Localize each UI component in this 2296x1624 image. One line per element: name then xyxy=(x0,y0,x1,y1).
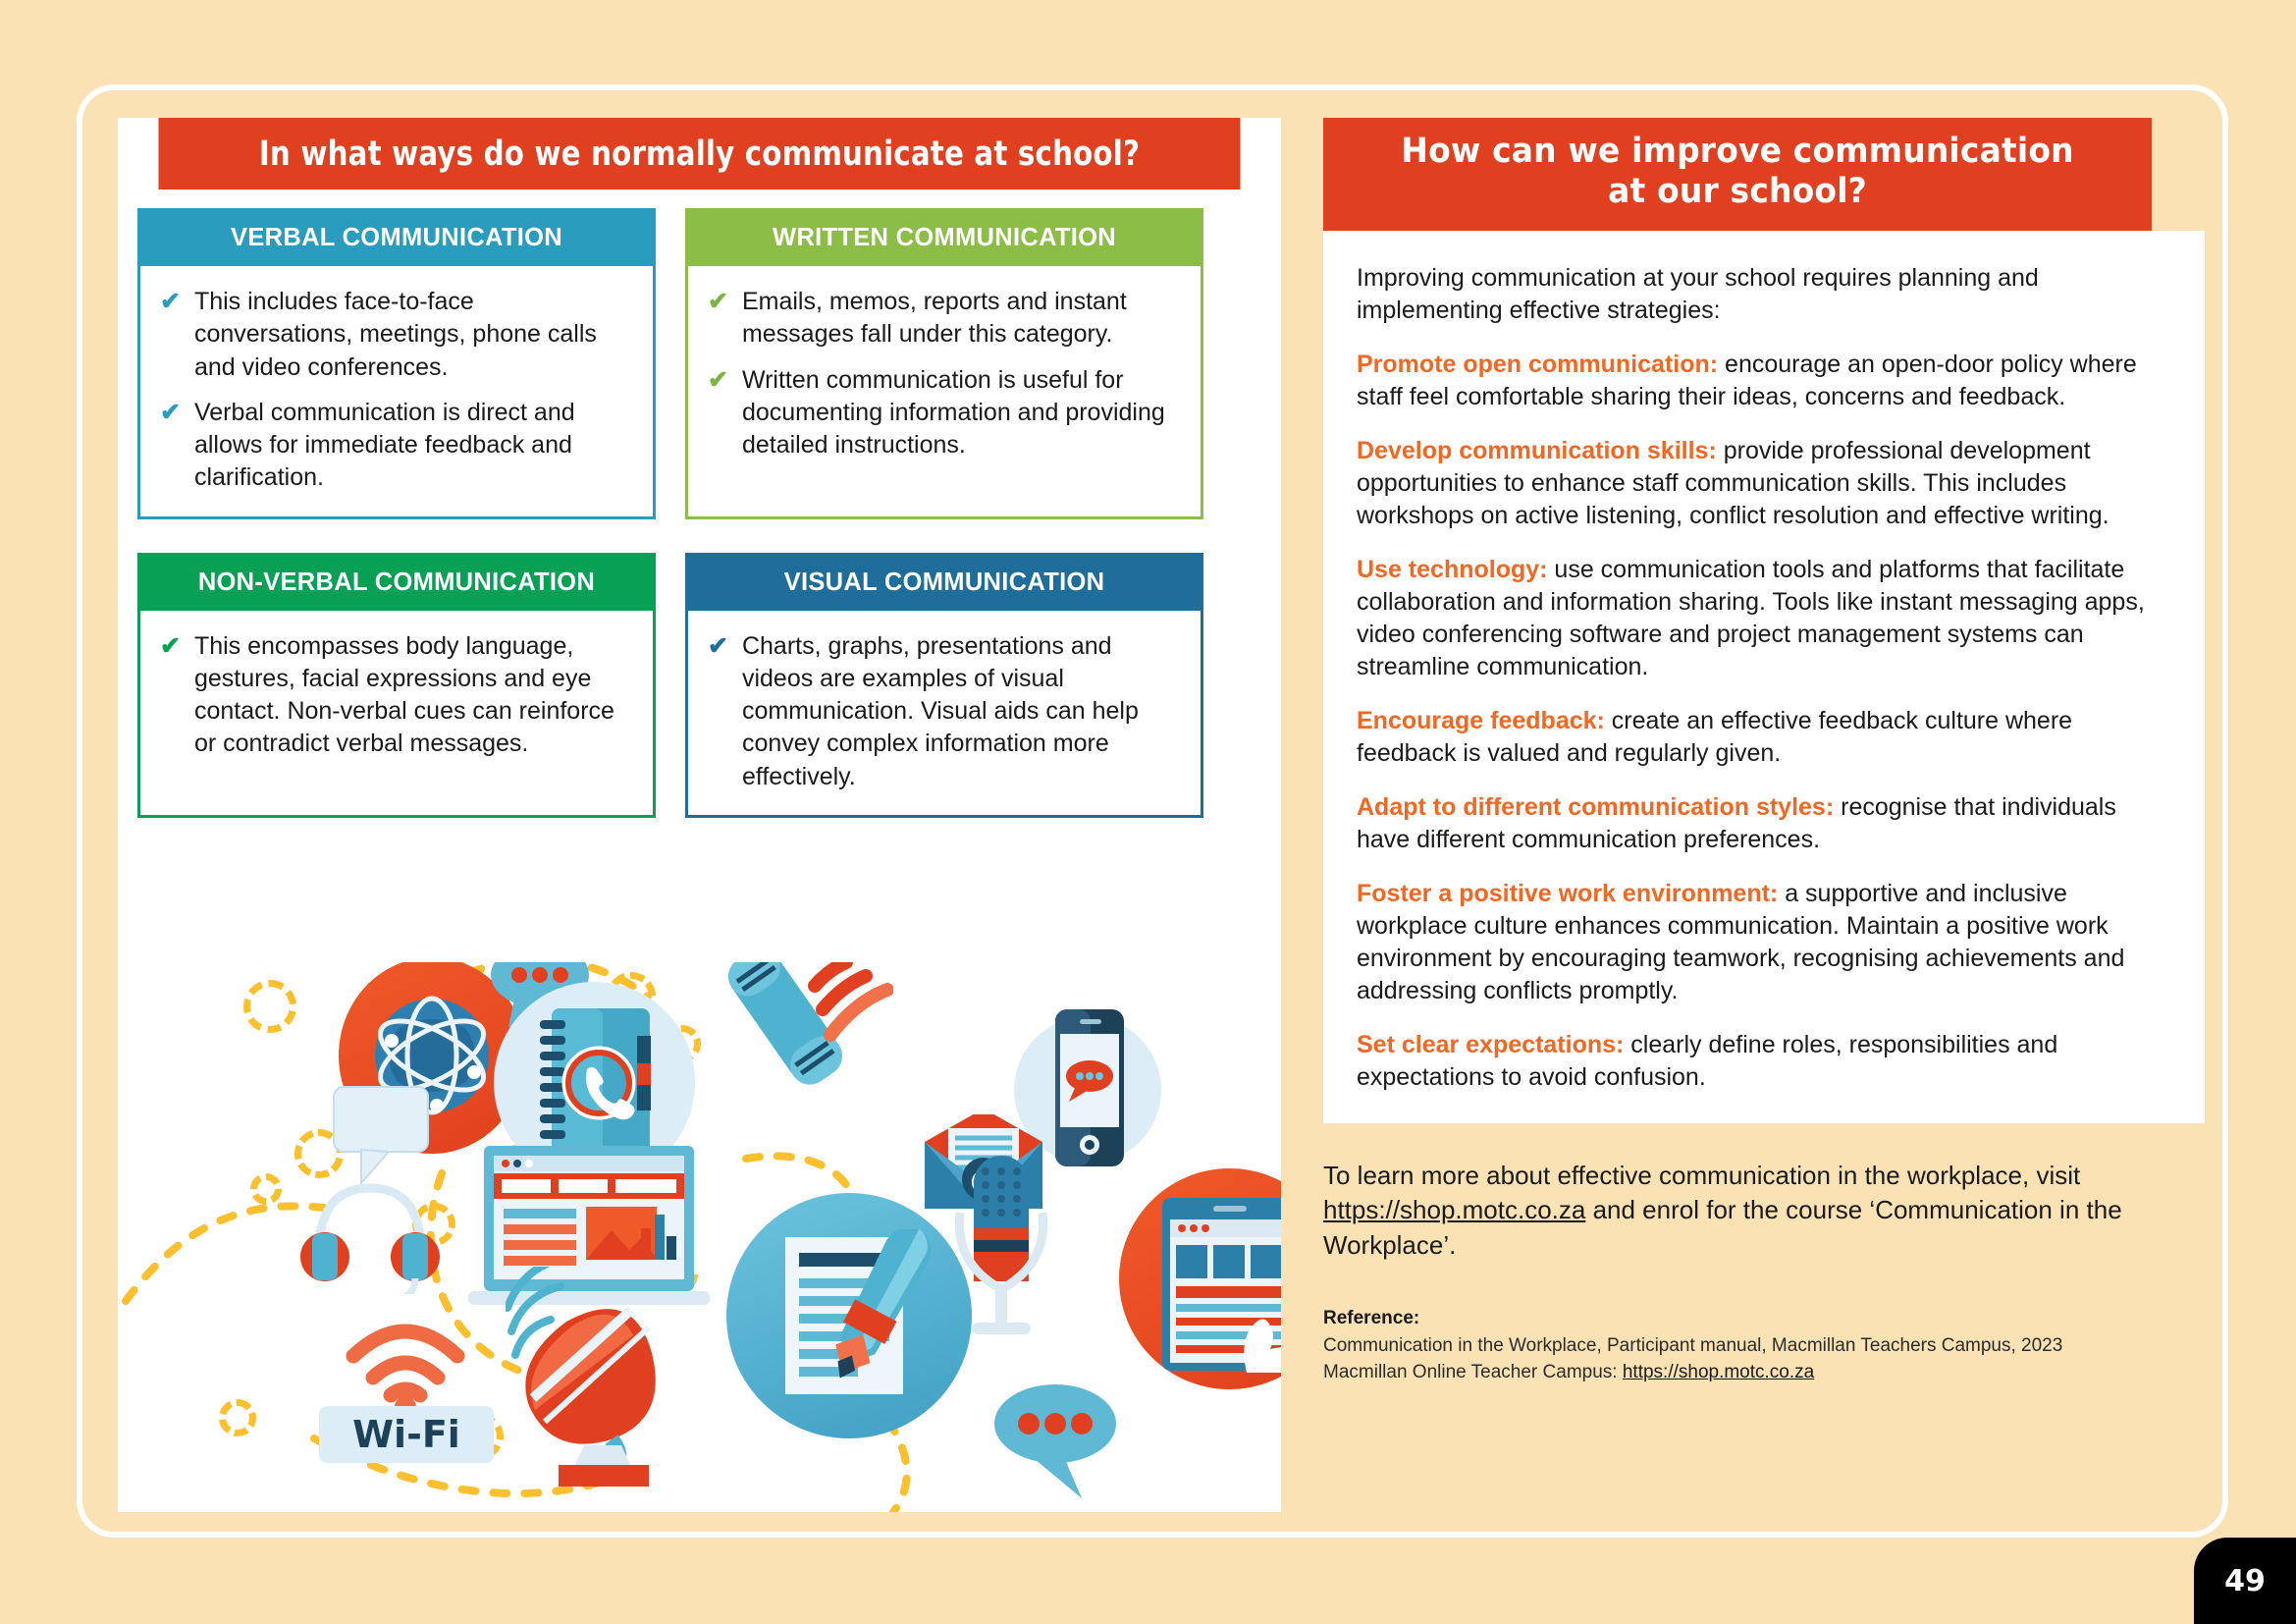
reference-line-2: Macmillan Online Teacher Campus: https:/… xyxy=(1323,1360,2205,1386)
bullet-text: Charts, graphs, presentations and videos… xyxy=(742,630,1179,793)
right-header-line-2: at our school? xyxy=(1351,172,2124,212)
card-title: NON-VERBAL COMMUNICATION xyxy=(140,556,653,611)
learn-more-paragraph: To learn more about effective communicat… xyxy=(1323,1159,2205,1264)
strategy-lead: Encourage feedback: xyxy=(1357,707,1605,734)
chat-bubble-outline-icon xyxy=(332,1085,430,1188)
reference-link[interactable]: https://shop.motc.co.za xyxy=(1623,1362,1814,1382)
check-icon: ✔ xyxy=(160,397,181,495)
reference-block: Reference: Communication in the Workplac… xyxy=(1323,1308,2205,1386)
learn-more-before: To learn more about effective communicat… xyxy=(1323,1161,2080,1190)
card-body: ✔ This encompasses body language, gestur… xyxy=(140,611,653,783)
reference-line-1: Communication in the Workplace, Particip… xyxy=(1323,1333,2205,1360)
chat-bubble-dots-icon xyxy=(991,1382,1119,1505)
check-icon: ✔ xyxy=(708,364,728,462)
smartphone-chat-icon xyxy=(1055,1009,1124,1166)
document-pen-icon xyxy=(777,1229,939,1406)
strategy-encourage-feedback: Encourage feedback: create an effective … xyxy=(1357,705,2171,770)
tablet-touch-icon xyxy=(1156,1196,1281,1373)
check-icon: ✔ xyxy=(708,630,728,793)
right-panel-header: How can we improve communication at our … xyxy=(1323,118,2152,231)
reference-title: Reference: xyxy=(1323,1308,2205,1329)
strategy-lead: Develop communication skills: xyxy=(1357,437,1717,464)
card-title: VERBAL COMMUNICATION xyxy=(140,211,653,266)
list-item: ✔ This includes face-to-face conversatio… xyxy=(160,286,631,384)
card-written-communication: WRITTEN COMMUNICATION ✔ Emails, memos, r… xyxy=(685,208,1203,519)
wifi-label: Wi-Fi xyxy=(319,1406,494,1463)
check-icon: ✔ xyxy=(160,286,181,384)
telephone-handset-icon xyxy=(707,962,893,1110)
card-title: WRITTEN COMMUNICATION xyxy=(688,211,1201,266)
strategies-content-box: Improving communication at your school r… xyxy=(1323,231,2205,1123)
satellite-dish-icon xyxy=(506,1267,702,1488)
strategy-develop-communication-skills: Develop communication skills: provide pr… xyxy=(1357,435,2171,532)
bullet-text: Written communication is useful for docu… xyxy=(742,364,1179,462)
reference-line-2-label: Macmillan Online Teacher Campus: xyxy=(1323,1362,1623,1382)
page-root: In what ways do we normally communicate … xyxy=(0,0,2296,1624)
list-item: ✔ Verbal communication is direct and all… xyxy=(160,397,631,495)
card-title: VISUAL COMMUNICATION xyxy=(688,556,1201,611)
card-visual-communication: VISUAL COMMUNICATION ✔ Charts, graphs, p… xyxy=(685,553,1203,818)
strategy-use-technology: Use technology: use communication tools … xyxy=(1357,554,2171,683)
list-item: ✔ Charts, graphs, presentations and vide… xyxy=(708,630,1179,793)
strategy-adapt-to-styles: Adapt to different communication styles:… xyxy=(1357,791,2171,856)
card-body: ✔ This includes face-to-face conversatio… xyxy=(140,266,653,516)
notebook-phone-icon xyxy=(538,1006,656,1159)
card-verbal-communication: VERBAL COMMUNICATION ✔ This includes fac… xyxy=(137,208,656,519)
left-panel-header: In what ways do we normally communicate … xyxy=(158,118,1240,189)
communication-illustration: @ xyxy=(118,962,1281,1512)
strategy-lead: Set clear expectations: xyxy=(1357,1031,1624,1058)
bullet-text: Verbal communication is direct and allow… xyxy=(194,397,631,495)
communication-type-cards: VERBAL COMMUNICATION ✔ This includes fac… xyxy=(137,208,1261,851)
list-item: ✔ This encompasses body language, gestur… xyxy=(160,630,631,761)
strategy-promote-open-communication: Promote open communication: encourage an… xyxy=(1357,349,2171,413)
strategy-lead: Promote open communication: xyxy=(1357,351,1718,378)
bullet-text: This includes face-to-face conversations… xyxy=(194,286,631,384)
check-icon: ✔ xyxy=(708,286,728,352)
shop-motc-link[interactable]: https://shop.motc.co.za xyxy=(1323,1195,1585,1224)
strategy-foster-positive-environment: Foster a positive work environment: a su… xyxy=(1357,878,2171,1007)
right-panel: How can we improve communication at our … xyxy=(1323,118,2205,1386)
card-non-verbal-communication: NON-VERBAL COMMUNICATION ✔ This encompas… xyxy=(137,553,656,818)
card-row-bottom: NON-VERBAL COMMUNICATION ✔ This encompas… xyxy=(137,553,1261,818)
page-number-badge: 49 xyxy=(2194,1538,2296,1624)
intro-paragraph: Improving communication at your school r… xyxy=(1357,262,2171,327)
strategy-set-clear-expectations: Set clear expectations: clearly define r… xyxy=(1357,1029,2171,1094)
card-body: ✔ Emails, memos, reports and instant mes… xyxy=(688,266,1201,483)
strategy-lead: Use technology: xyxy=(1357,556,1547,583)
bullet-text: This encompasses body language, gestures… xyxy=(194,630,631,761)
list-item: ✔ Emails, memos, reports and instant mes… xyxy=(708,286,1179,352)
card-row-top: VERBAL COMMUNICATION ✔ This includes fac… xyxy=(137,208,1261,519)
headset-icon xyxy=(299,1176,442,1294)
strategy-lead: Adapt to different communication styles: xyxy=(1357,793,1834,821)
left-panel: In what ways do we normally communicate … xyxy=(118,118,1281,1512)
card-body: ✔ Charts, graphs, presentations and vide… xyxy=(688,611,1201,815)
list-item: ✔ Written communication is useful for do… xyxy=(708,364,1179,462)
strategy-lead: Foster a positive work environment: xyxy=(1357,880,1778,907)
right-header-line-1: How can we improve communication xyxy=(1351,132,2124,172)
bullet-text: Emails, memos, reports and instant messa… xyxy=(742,286,1179,352)
check-icon: ✔ xyxy=(160,630,181,761)
